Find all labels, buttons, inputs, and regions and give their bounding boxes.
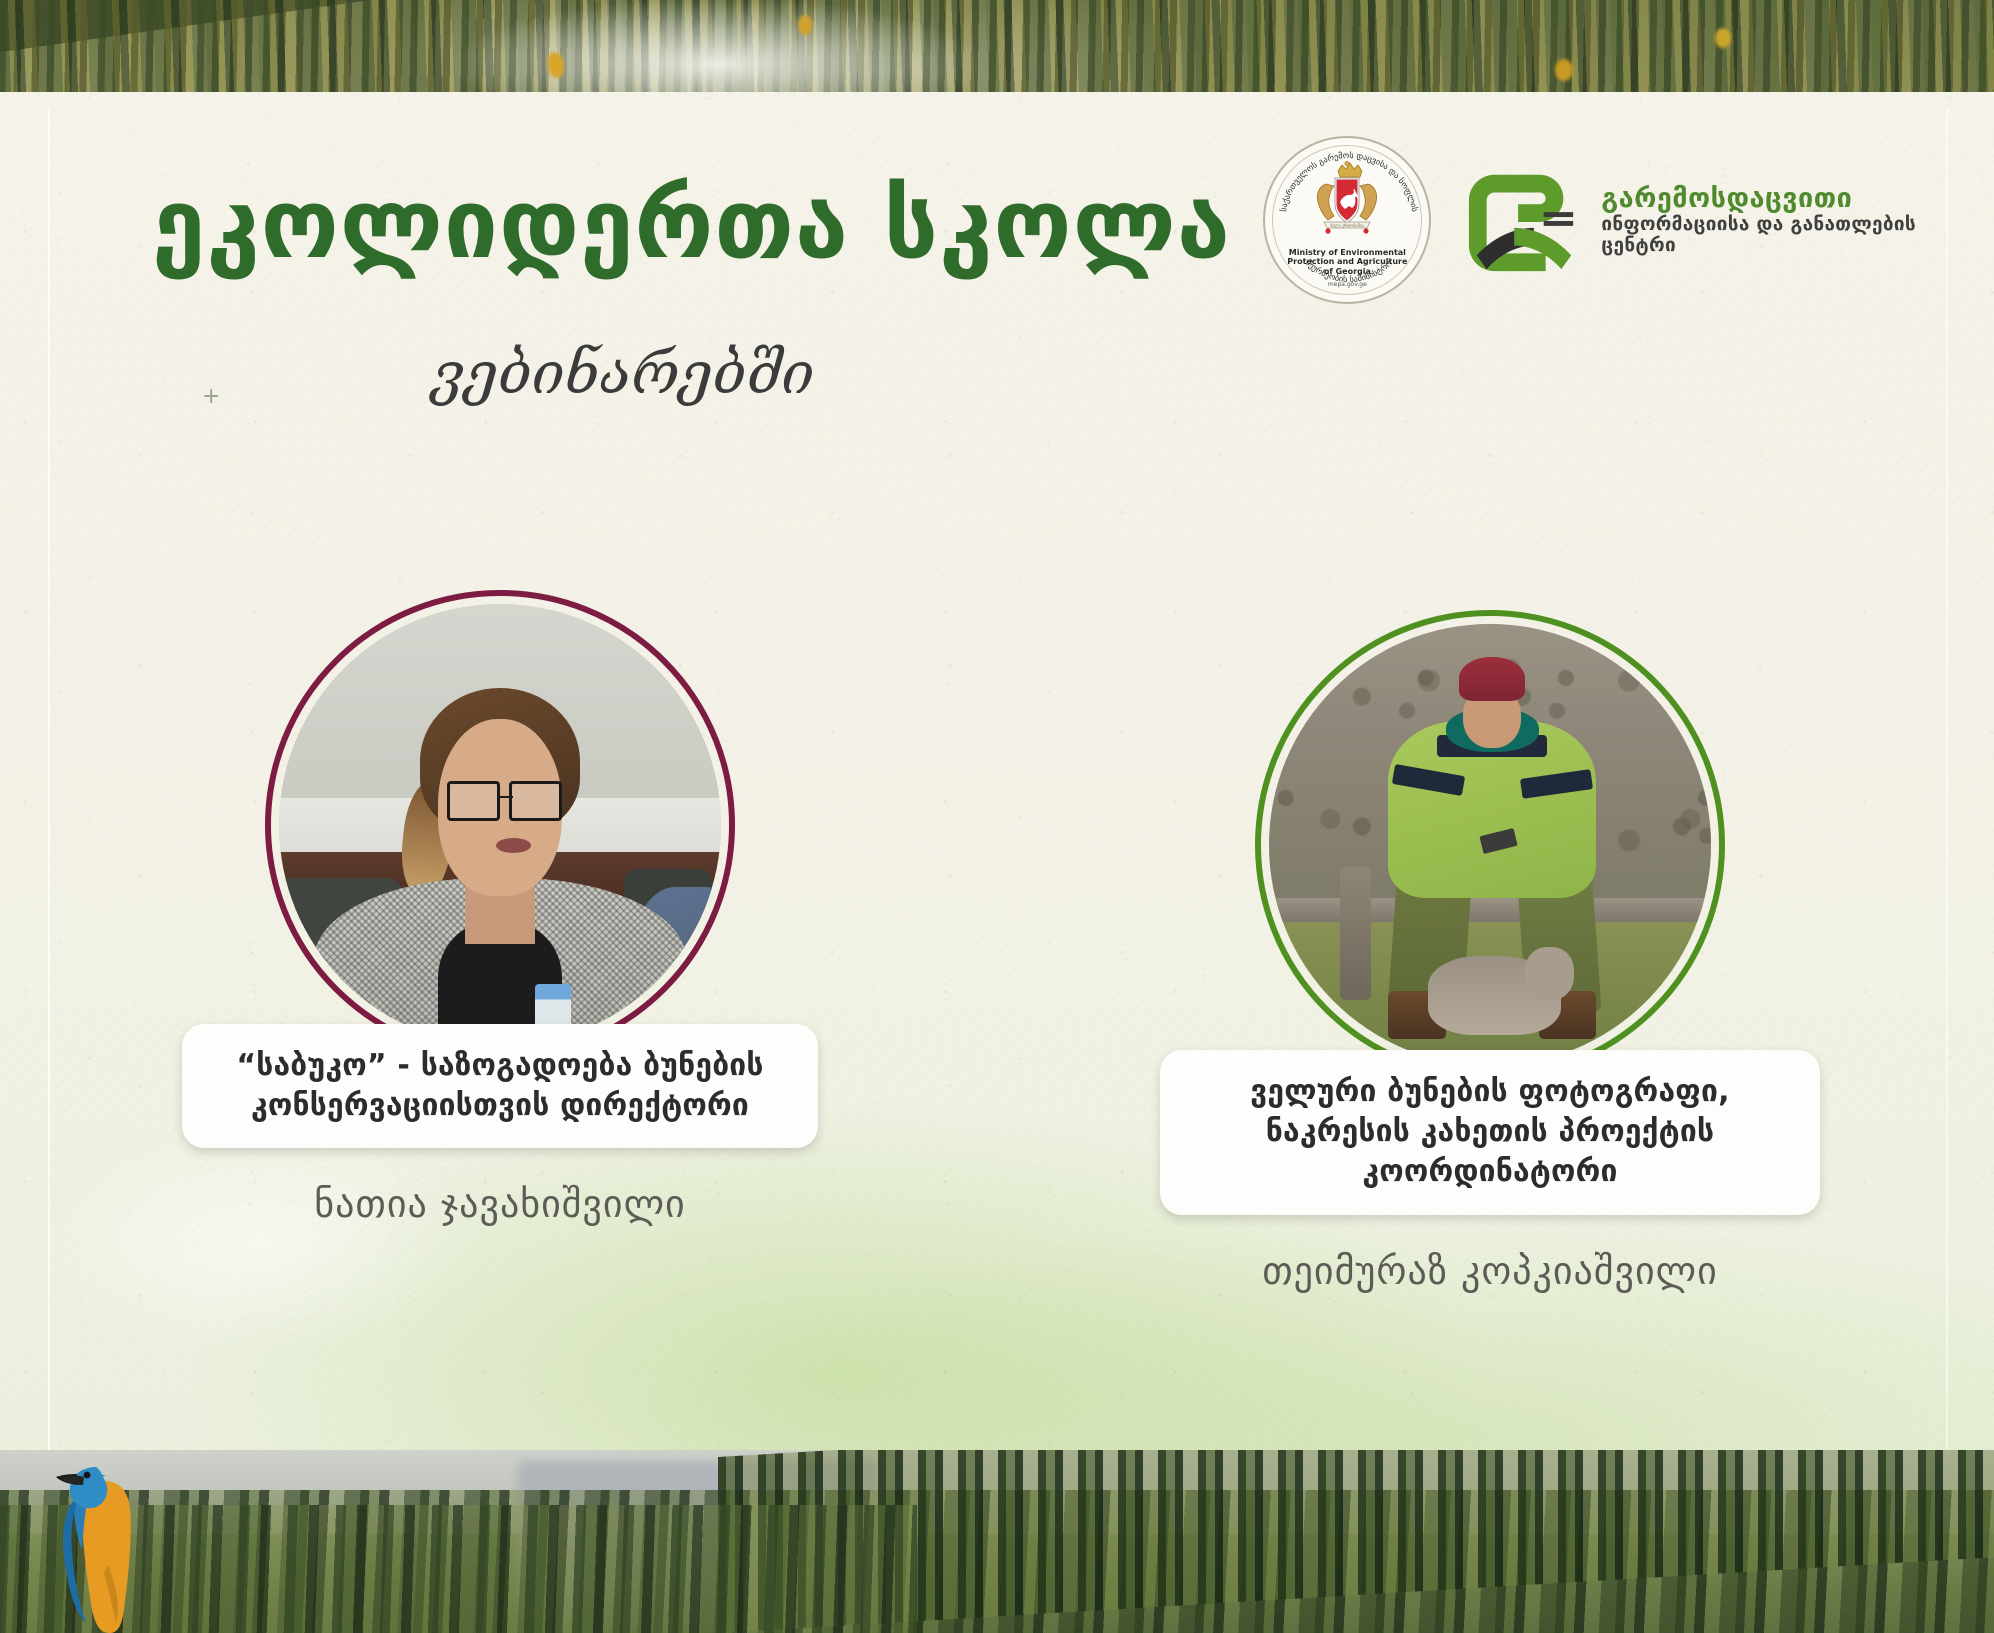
speaker-1-role-caption: “საბუკო” - საზოგადოება ბუნების კონსერვაც… (182, 1024, 818, 1148)
frame-hairline-left (48, 108, 50, 1450)
seal-en-line2: Protection and Agriculture (1265, 257, 1429, 266)
seal-en-line3: of Georgia (1265, 267, 1429, 276)
seal-website-text: mepa.gov.ge (1265, 281, 1429, 288)
eiec-logo: გარემოსდაცვითი ინფორმაციისა და განათლები… (1465, 161, 1916, 279)
logo-row: საქართველოს გარემოს დაცვისა და სოფლის მე… (1263, 136, 1916, 304)
plus-marker: + (202, 388, 220, 406)
speaker-2-portrait (1255, 610, 1725, 1080)
eiec-line-1: გარემოსდაცვითი (1601, 184, 1916, 214)
seal-english-text: Ministry of Environmental Protection and… (1265, 248, 1429, 276)
autumn-leaf-dot (1715, 28, 1731, 48)
eiec-line-3: ცენტრი (1601, 235, 1916, 256)
seal-en-line1: Ministry of Environmental (1265, 248, 1429, 257)
bottom-banner-image (0, 1450, 1994, 1633)
frame-hairline-right (1946, 108, 1948, 1450)
speaker-1-ring (265, 590, 735, 1060)
autumn-leaf-dot (798, 15, 812, 35)
blue-orange-flycatcher-bird-icon (44, 1450, 172, 1633)
eiec-line-2: ინფორმაციისა და განათლების (1601, 214, 1916, 235)
speaker-2-role-caption: ველური ბუნების ფოტოგრაფი, ნაკრესის კახეთ… (1160, 1050, 1820, 1215)
presentation-slide: ეკოლიდერთა სკოლა + ვებინარებში საქართველ… (0, 0, 1994, 1633)
eiec-logo-text: გარემოსდაცვითი ინფორმაციისა და განათლები… (1601, 184, 1916, 257)
mist-overlay (279, 0, 1156, 92)
page-subtitle: ვებინარებში (432, 344, 814, 402)
open-book-leaf-logo-icon (1465, 161, 1583, 279)
page-title: ეკოლიდერთა სკოლა (152, 176, 1231, 272)
speaker-card-2: ველური ბუნების ფოტოგრაფი, ნაკრესის კახეთ… (1140, 610, 1840, 1293)
speaker-1-name: ნათია ჯავახიშვილი (150, 1182, 850, 1226)
speaker-2-ring (1255, 610, 1725, 1080)
speaker-2-name: თეიმურაზ კოპკიაშვილი (1140, 1249, 1840, 1293)
speaker-1-portrait (265, 590, 735, 1060)
top-banner-image (0, 0, 1994, 92)
speaker-card-1: “საბუკო” - საზოგადოება ბუნების კონსერვაც… (150, 590, 850, 1226)
georgia-ministry-seal-icon: საქართველოს გარემოს დაცვისა და სოფლის მე… (1263, 136, 1431, 304)
georgia-coat-of-arms-icon: ძალა ერთობაშია (1304, 160, 1390, 244)
svg-text:ძალა ერთობაშია: ძალა ერთობაშია (1331, 223, 1365, 228)
